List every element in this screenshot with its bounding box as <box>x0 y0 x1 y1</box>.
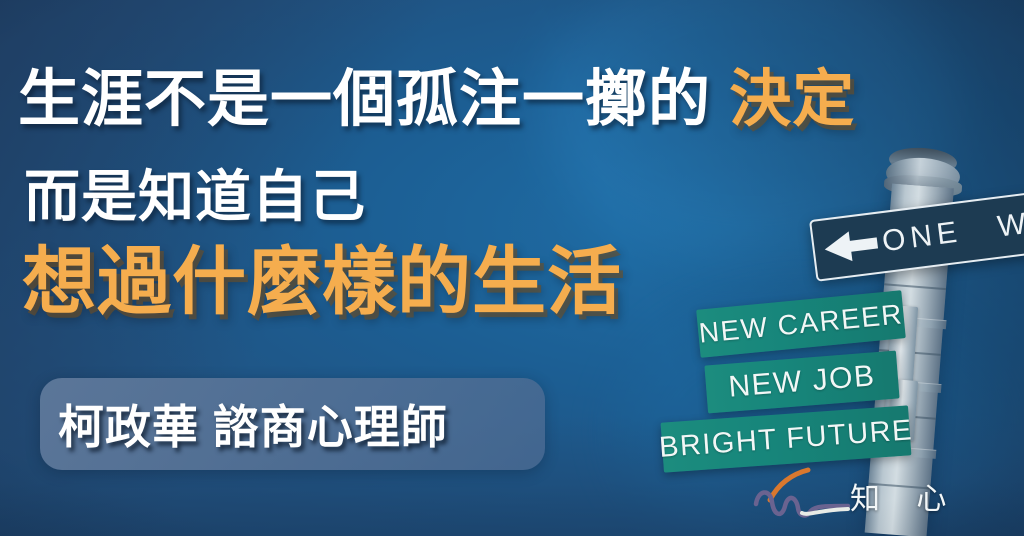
name-badge-label: 柯政華 諮商心理師 <box>58 391 448 457</box>
banner-canvas: ONE WAY NEW CAREER NEW JOB BRIGHT FUTURE… <box>0 0 1024 536</box>
brand-logo: 知 心 <box>752 466 932 532</box>
headline-line-1-white: 生涯不是一個孤注一擲的 <box>18 65 711 134</box>
headline-line-1-accent: 決定 <box>729 65 855 134</box>
name-badge: 柯政華 諮商心理師 <box>40 378 545 470</box>
orange-arc-icon <box>770 470 808 500</box>
logo-wordmark: 知 心 <box>850 474 960 518</box>
headline-line-2: 而是知道自己 <box>24 152 366 233</box>
headline-line-3: 想過什麼樣的生活 <box>22 222 622 329</box>
headline-line-1: 生涯不是一個孤注一擲的 決定 <box>18 48 855 138</box>
